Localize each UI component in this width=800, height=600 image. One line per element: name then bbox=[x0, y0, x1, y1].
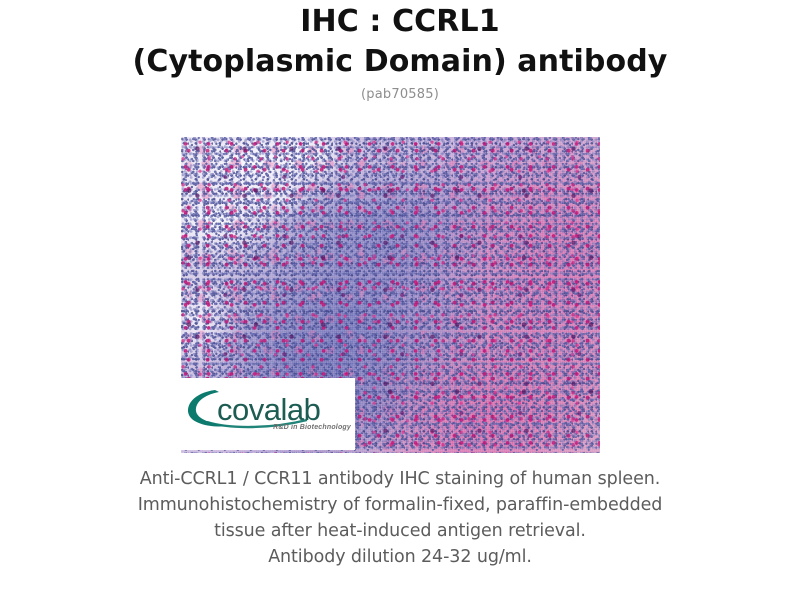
covalab-wordmark: covalab bbox=[217, 392, 320, 427]
covalab-tagline: R&D in Biotechnology bbox=[181, 424, 351, 431]
caption-line-4: Antibody dilution 24-32 ug/ml. bbox=[0, 544, 800, 570]
title-block: IHC : CCRL1 (Cytoplasmic Domain) antibod… bbox=[0, 0, 800, 104]
covalab-logo-panel: covalab R&D in Biotechnology bbox=[181, 378, 355, 450]
caption-line-1: Anti-CCRL1 / CCR11 antibody IHC staining… bbox=[0, 466, 800, 492]
caption-line-2: Immunohistochemistry of formalin-fixed, … bbox=[0, 492, 800, 518]
caption-line-3: tissue after heat-induced antigen retrie… bbox=[0, 518, 800, 544]
image-caption: Anti-CCRL1 / CCR11 antibody IHC staining… bbox=[0, 466, 800, 570]
page-title-line-2: (Cytoplasmic Domain) antibody bbox=[0, 41, 800, 81]
covalab-logo: covalab R&D in Biotechnology bbox=[181, 378, 355, 450]
product-image-card: IHC : CCRL1 (Cytoplasmic Domain) antibod… bbox=[0, 0, 800, 600]
catalog-number: (pab70585) bbox=[0, 81, 800, 104]
page-title-line-1: IHC : CCRL1 bbox=[0, 0, 800, 41]
